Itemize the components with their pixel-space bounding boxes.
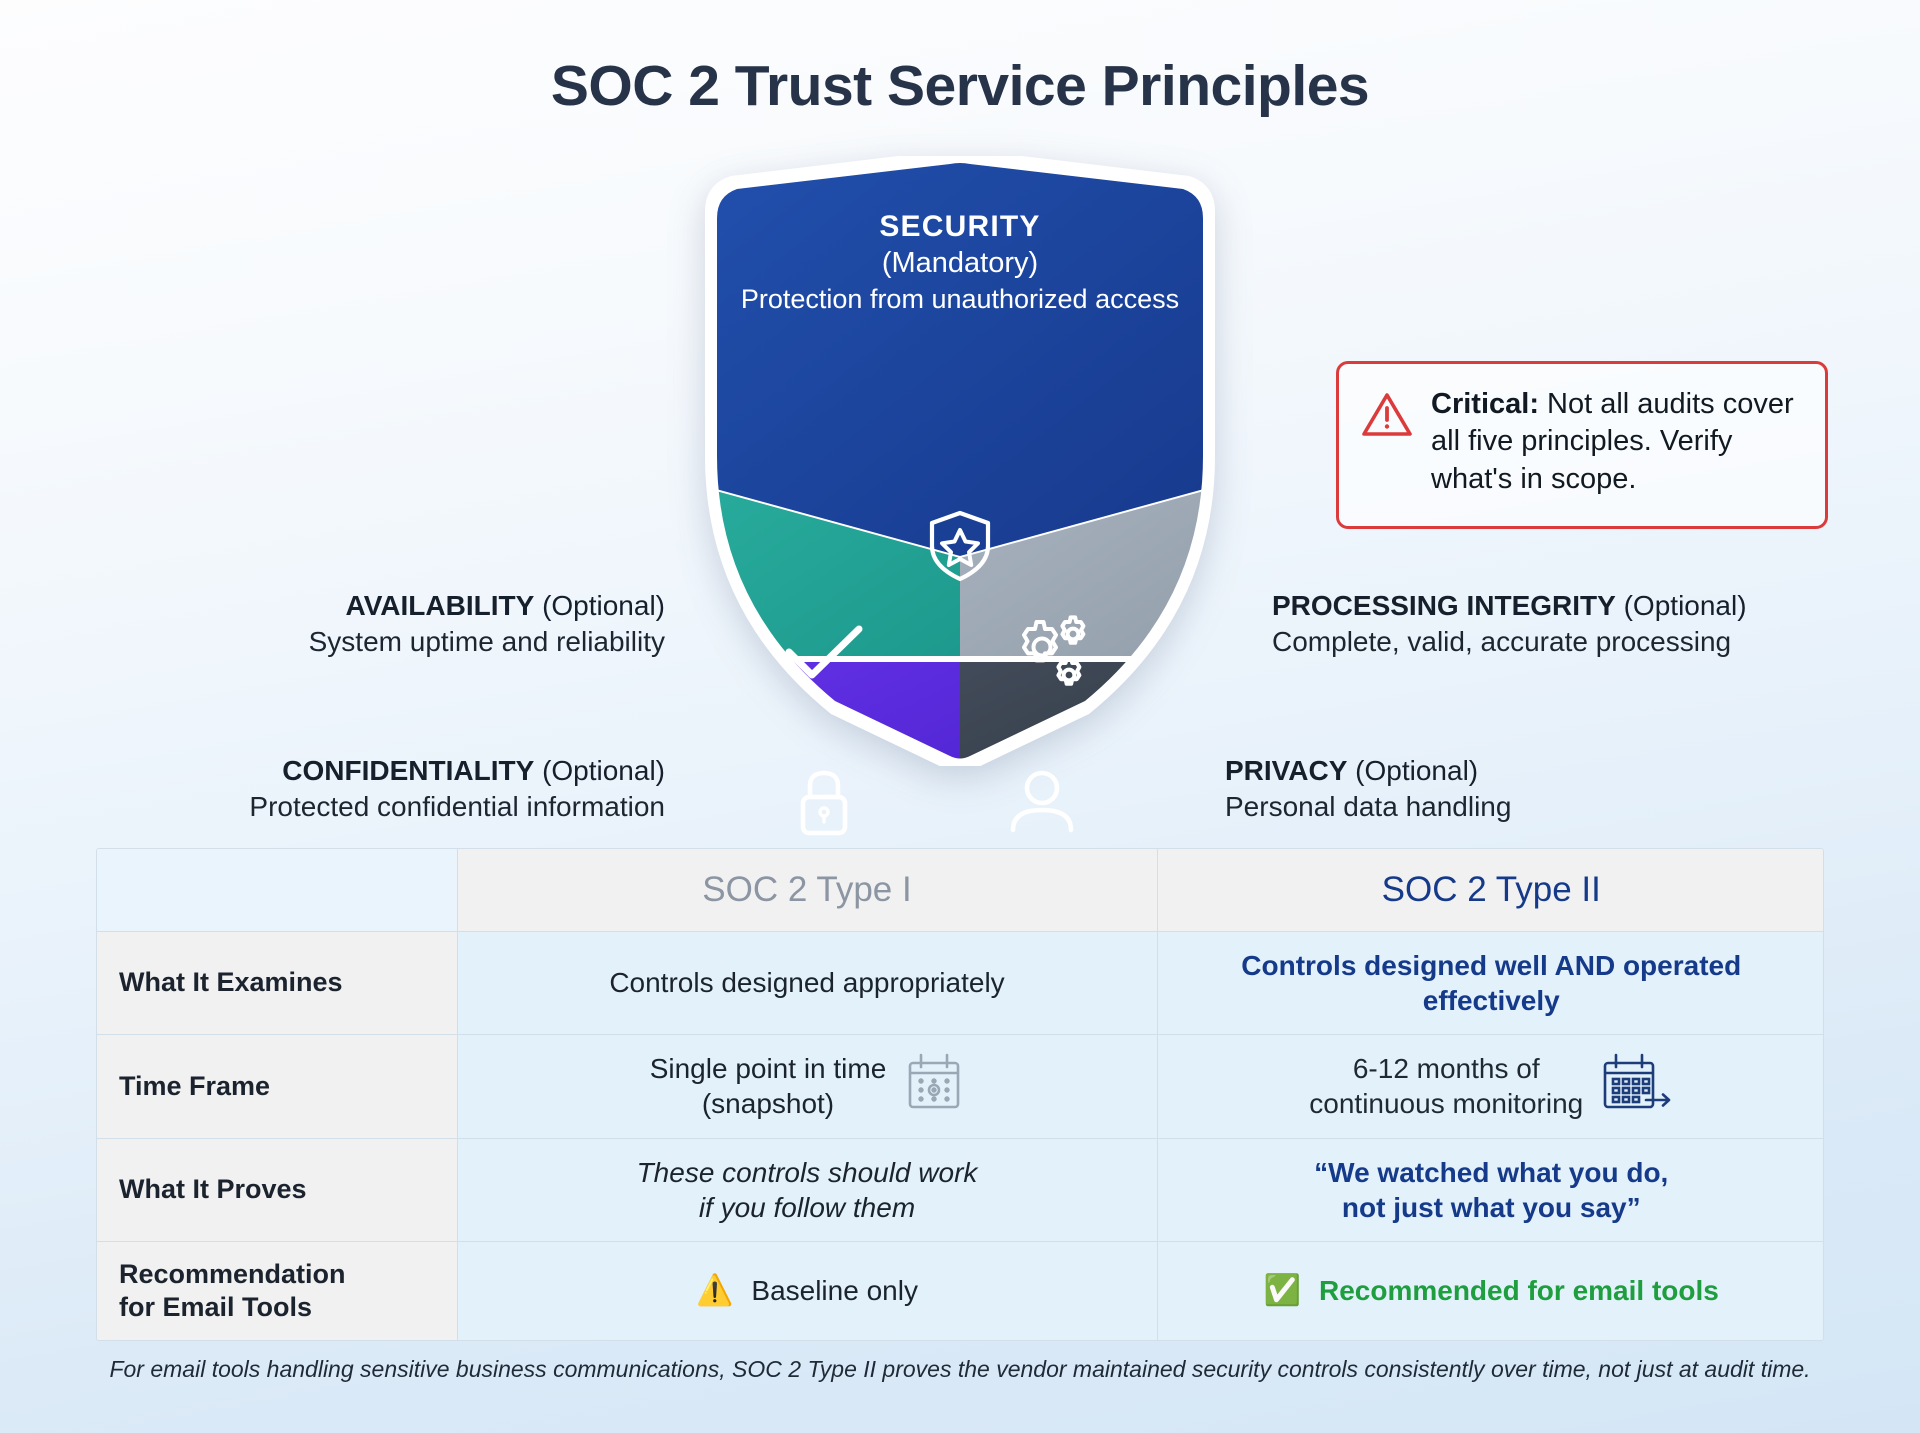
cell-type2-what-it-proves-line1: “We watched what you do, bbox=[1172, 1155, 1812, 1190]
privacy-name: PRIVACY bbox=[1225, 755, 1347, 786]
header-type-2: SOC 2 Type II bbox=[1157, 849, 1824, 931]
cell-type2-what-it-examines: Controls designed well AND operated effe… bbox=[1241, 950, 1741, 1016]
calendar-continuous-icon bbox=[1601, 1051, 1673, 1121]
cell-type1-recommendation: Baseline only bbox=[751, 1273, 918, 1308]
row-label-what-it-proves: What It Proves bbox=[97, 1138, 457, 1242]
comparison-table: SOC 2 Type I SOC 2 Type II What It Exami… bbox=[96, 848, 1824, 1341]
warning-emoji-icon: ⚠️ bbox=[696, 1276, 733, 1306]
header-type-1: SOC 2 Type I bbox=[457, 849, 1157, 931]
label-availability: AVAILABILITY (Optional) System uptime an… bbox=[245, 588, 665, 660]
check-mark-emoji-icon: ✅ bbox=[1264, 1276, 1301, 1306]
row-label-what-it-examines: What It Examines bbox=[97, 931, 457, 1035]
warning-triangle-icon bbox=[1361, 390, 1413, 443]
shield-graphic bbox=[665, 156, 1255, 766]
cell-type1-time-frame-line1: Single point in time bbox=[650, 1051, 887, 1086]
label-confidentiality: CONFIDENTIALITY (Optional) Protected con… bbox=[215, 753, 665, 825]
hero-section: SECURITY (Mandatory) Protection from una… bbox=[0, 118, 1920, 793]
cell-type1-what-it-proves-line2: if you follow them bbox=[472, 1190, 1143, 1225]
availability-status: (Optional) bbox=[542, 590, 665, 621]
cell-type1-what-it-examines: Controls designed appropriately bbox=[457, 931, 1157, 1035]
row-label-recommendation-line1: Recommendation bbox=[119, 1258, 443, 1291]
privacy-status: (Optional) bbox=[1355, 755, 1478, 786]
cell-type2-time-frame-line2: continuous monitoring bbox=[1309, 1086, 1583, 1121]
processing-integrity-description: Complete, valid, accurate processing bbox=[1272, 624, 1872, 660]
shield-segments bbox=[705, 156, 1215, 766]
confidentiality-status: (Optional) bbox=[542, 755, 665, 786]
calendar-single-day-icon bbox=[904, 1051, 964, 1121]
cell-type1-time-frame-line2: (snapshot) bbox=[650, 1086, 887, 1121]
shield-diagram: SECURITY (Mandatory) Protection from una… bbox=[665, 156, 1255, 766]
table-row: Recommendation for Email Tools ⚠️ Baseli… bbox=[97, 1242, 1824, 1340]
label-privacy: PRIVACY (Optional) Personal data handlin… bbox=[1225, 753, 1825, 825]
row-label-recommendation: Recommendation for Email Tools bbox=[97, 1242, 457, 1340]
availability-description: System uptime and reliability bbox=[245, 624, 665, 660]
cell-type1-what-it-proves-line1: These controls should work bbox=[472, 1155, 1143, 1190]
header-blank bbox=[97, 849, 457, 931]
table-row: What It Proves These controls should wor… bbox=[97, 1138, 1824, 1242]
table-row: Time Frame Single point in time (snapsho… bbox=[97, 1035, 1824, 1139]
table-header-row: SOC 2 Type I SOC 2 Type II bbox=[97, 849, 1824, 931]
table-row: What It Examines Controls designed appro… bbox=[97, 931, 1824, 1035]
lock-icon bbox=[793, 766, 855, 845]
cell-type2-what-it-proves-line2: not just what you say” bbox=[1172, 1190, 1812, 1225]
row-label-time-frame: Time Frame bbox=[97, 1035, 457, 1139]
shield-segment-security bbox=[705, 156, 1215, 556]
row-label-recommendation-line2: for Email Tools bbox=[119, 1291, 443, 1324]
privacy-description: Personal data handling bbox=[1225, 789, 1825, 825]
cell-type2-time-frame-line1: 6-12 months of bbox=[1309, 1051, 1583, 1086]
person-icon bbox=[1005, 766, 1079, 841]
cell-type2-recommendation: Recommended for email tools bbox=[1319, 1273, 1719, 1308]
availability-name: AVAILABILITY bbox=[346, 590, 535, 621]
footnote: For email tools handling sensitive busin… bbox=[0, 1356, 1920, 1383]
page-title: SOC 2 Trust Service Principles bbox=[0, 0, 1920, 118]
processing-integrity-name: PROCESSING INTEGRITY bbox=[1272, 590, 1616, 621]
label-processing-integrity: PROCESSING INTEGRITY (Optional) Complete… bbox=[1272, 588, 1872, 660]
processing-integrity-status: (Optional) bbox=[1624, 590, 1747, 621]
callout-label: Critical: bbox=[1431, 388, 1539, 420]
confidentiality-description: Protected confidential information bbox=[215, 789, 665, 825]
confidentiality-name: CONFIDENTIALITY bbox=[282, 755, 534, 786]
critical-callout: Critical: Not all audits cover all five … bbox=[1336, 361, 1828, 529]
